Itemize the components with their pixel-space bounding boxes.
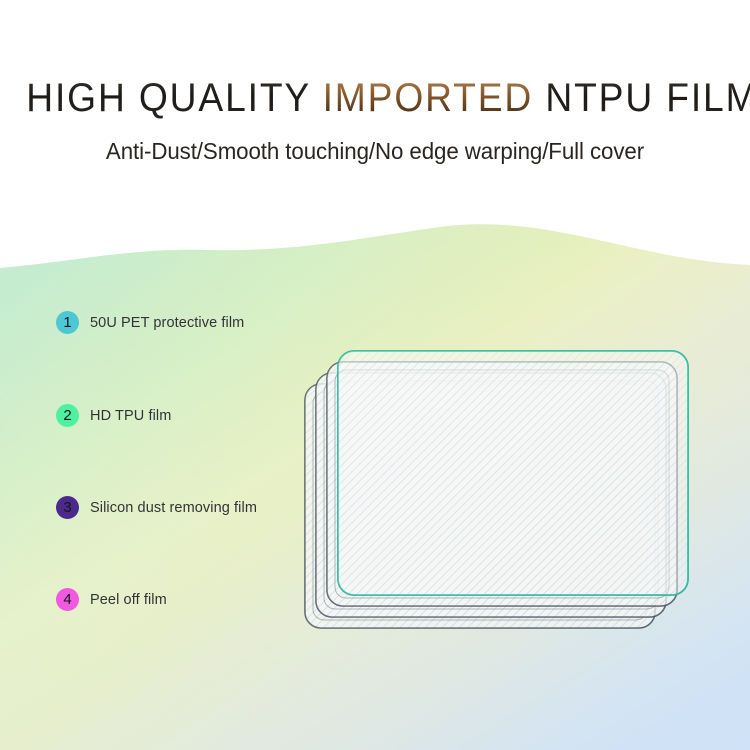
legend-item-3: 3 Silicon dust removing film [56,496,257,519]
legend-number-4: 4 [63,591,71,608]
legend-item-2: 2 HD TPU film [56,404,171,427]
number-badge-icon-3: 3 [56,496,79,519]
legend-number-1: 1 [63,314,71,331]
film-layer-pet-protective [338,351,688,595]
legend-list: 1 50U PET protective film 2 HD TPU film … [0,0,320,750]
legend-item-1: 1 50U PET protective film [56,311,244,334]
title-segment-3: NTPU FILM [533,76,750,120]
legend-number-2: 2 [63,407,71,424]
title-segment-2: IMPORTED [323,76,534,120]
legend-label-4: Peel off film [90,592,167,608]
legend-item-4: 4 Peel off film [56,588,167,611]
legend-label-3: Silicon dust removing film [90,500,257,516]
legend-label-2: HD TPU film [90,408,171,424]
legend-label-1: 50U PET protective film [90,315,244,331]
number-badge-icon-2: 2 [56,404,79,427]
number-badge-icon-4: 4 [56,588,79,611]
legend-number-3: 3 [63,499,71,516]
product-feature-graphic: HIGH QUALITY IMPORTED NTPU FILM Anti-Dus… [0,0,750,750]
number-badge-icon-1: 1 [56,311,79,334]
